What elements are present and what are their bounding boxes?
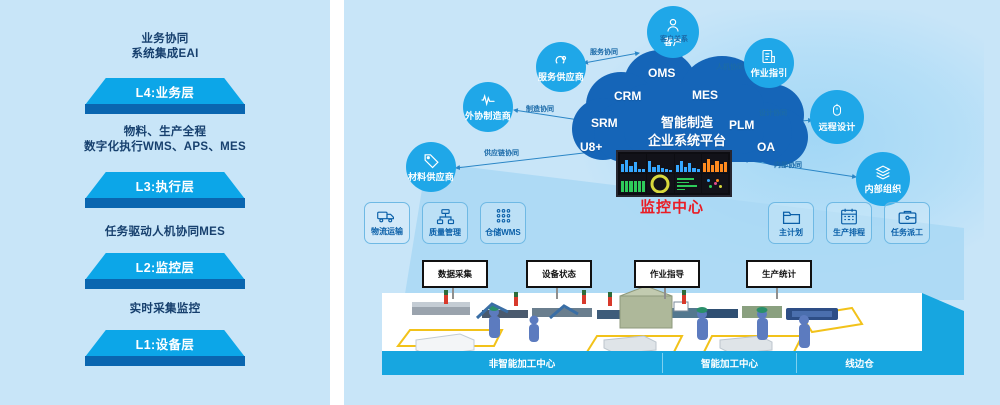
cloud-module-oms: OMS (648, 66, 675, 80)
bar-chart (621, 159, 645, 172)
cloud-title-line1: 智能制造 (627, 114, 747, 131)
dashboard-panel-bar (620, 154, 646, 173)
dashboard-panel-scatter (702, 174, 728, 193)
tile-label: 物流运输 (371, 226, 403, 237)
dashboard-panel-bar (675, 154, 701, 173)
satellite-work-instruction[interactable]: 作业指引 (744, 38, 794, 88)
connector-label-internal-collab: 内部协同 (774, 160, 802, 170)
satellite-customer[interactable]: 客户 (647, 6, 699, 58)
layer-caption-2: 任务驱动人机协同MES (0, 225, 330, 240)
tile-label: 任务派工 (891, 227, 923, 238)
cloud-module-mes: MES (692, 88, 718, 102)
layer-label: L2:监控层 (85, 257, 245, 276)
tile-production-scheduling[interactable]: 生产排程 (826, 202, 872, 244)
dashboard-grid (620, 154, 728, 193)
connector-label-human-machine-collab: 人机协同 (716, 62, 744, 72)
satellite-label: 材料供应商 (408, 170, 454, 183)
caption-line: 系统集成EAI (0, 47, 330, 62)
tile-label: 质量管理 (429, 227, 461, 238)
dashboard-panel-bar (647, 154, 673, 173)
connector-label-service-collab: 服务协同 (590, 47, 618, 57)
connector-label-design-collab: 设计协同 (759, 108, 787, 118)
signboard-production-statistics[interactable]: 生产统计 (746, 260, 812, 288)
service-icon (553, 52, 570, 69)
cloud-module-crm: CRM (614, 89, 641, 103)
briefcase-icon (898, 209, 917, 225)
tile-logistics[interactable]: 物流运输 (364, 202, 410, 244)
layers-icon (874, 164, 892, 181)
user-icon (665, 17, 681, 34)
smart-manufacturing-ecosystem-panel: OMS CRM MES SRM PLM U8+ OA 智能制造 企业系统平台 客… (344, 0, 1000, 405)
dashboard-panel-lines (675, 174, 701, 193)
bar-chart (648, 159, 672, 172)
signboard-equipment-status[interactable]: 设备状态 (526, 260, 592, 288)
satellite-label: 作业指引 (751, 66, 788, 79)
signboard-label: 生产统计 (762, 268, 796, 280)
tile-label: 仓储WMS (485, 227, 521, 238)
truck-icon (377, 209, 397, 224)
cloud-module-u8plus: U8+ (580, 140, 602, 154)
satellite-material-supplier[interactable]: 材料供应商 (406, 142, 456, 192)
cloud-module-srm: SRM (591, 116, 618, 130)
zone-label-line-side-warehouse: 线边仓 (797, 356, 922, 374)
signboard-label: 作业指导 (650, 268, 684, 280)
monitoring-center-title: 监控中心 (606, 196, 738, 217)
layer-label: L4:业务层 (85, 82, 245, 101)
caption-line: 数字化执行WMS、APS、MES (0, 140, 330, 155)
scatter-chart (704, 176, 726, 191)
bar-chart (703, 159, 727, 172)
grid-dots-icon (494, 208, 513, 225)
waveform-icon (479, 92, 497, 108)
mouse-icon (830, 101, 844, 119)
satellite-internal-organization[interactable]: 内部组织 (856, 152, 910, 206)
satellite-label: 远程设计 (819, 120, 856, 133)
donut-chart (651, 174, 670, 193)
signboard-work-guidance[interactable]: 作业指导 (634, 260, 700, 288)
tile-warehouse-wms[interactable]: 仓储WMS (480, 202, 526, 244)
tile-label: 生产排程 (833, 227, 865, 238)
connector-label-customer-relation: 客户关系 (660, 34, 688, 44)
factory-floor: 数据采集 设备状态 作业指导 生产统计 非智能加工中心 智能加工中心 线边仓 (344, 255, 1000, 405)
tile-master-plan[interactable]: 主计划 (768, 202, 814, 244)
satellite-label: 外协制造商 (465, 109, 511, 122)
pyramid-layer-l4[interactable]: L4:业务层 (0, 78, 330, 120)
dashboard-panel-bar-orange (702, 154, 728, 173)
layer-label: L1:设备层 (85, 334, 245, 353)
signboard-label: 数据采集 (438, 268, 472, 280)
tile-label: 主计划 (779, 227, 803, 238)
satellite-label: 内部组织 (865, 182, 902, 195)
connector-label-supplychain-collab: 供应链协同 (484, 148, 519, 158)
production-line-illustration (382, 288, 942, 358)
folder-icon (782, 209, 801, 225)
satellite-outsourced-manufacturer[interactable]: 外协制造商 (463, 82, 513, 132)
bar-chart (676, 159, 700, 172)
connector-label-manufacture-collab: 制造协同 (526, 104, 554, 114)
layer-base-face (85, 104, 245, 114)
tile-quality-management[interactable]: 质量管理 (422, 202, 468, 244)
pyramid-layer-l2[interactable]: L2:监控层 (0, 253, 330, 295)
diagram-root: 业务协同 系统集成EAI L4:业务层 物料、生产全程 数字化执行WMS、APS… (0, 0, 1000, 405)
document-icon (761, 48, 777, 65)
layer-base-face (85, 279, 245, 289)
tag-icon (423, 152, 440, 169)
monitoring-dashboard-screen[interactable] (616, 150, 732, 197)
layer-label: L3:执行层 (85, 176, 245, 195)
zone-label-non-smart: 非智能加工中心 (382, 356, 662, 374)
tile-task-dispatch[interactable]: 任务派工 (884, 202, 930, 244)
caption-line: 业务协同 (0, 32, 330, 47)
architecture-pyramid-panel: 业务协同 系统集成EAI L4:业务层 物料、生产全程 数字化执行WMS、APS… (0, 0, 330, 405)
cloud-title-line2: 企业系统平台 (627, 132, 747, 149)
satellite-label: 服务供应商 (538, 70, 584, 83)
layer-caption-3: 物料、生产全程 数字化执行WMS、APS、MES (0, 125, 330, 155)
zone-label-smart: 智能加工中心 (663, 356, 796, 374)
hierarchy-icon (436, 209, 455, 225)
line-list (677, 177, 699, 191)
signboard-label: 设备状态 (542, 268, 576, 280)
caption-line: 物料、生产全程 (0, 125, 330, 140)
layer-caption-4: 业务协同 系统集成EAI (0, 32, 330, 62)
layer-base-face (85, 198, 245, 208)
bar-chart (621, 179, 645, 192)
dashboard-panel-bar-green (620, 174, 646, 193)
dashboard-panel-donut (647, 174, 673, 193)
layer-caption-1: 实时采集监控 (0, 302, 330, 317)
signboard-data-collection[interactable]: 数据采集 (422, 260, 488, 288)
satellite-service-provider[interactable]: 服务供应商 (536, 42, 586, 92)
panel-divider (330, 0, 344, 405)
cloud-module-oa: OA (757, 140, 775, 154)
satellite-remote-design[interactable]: 远程设计 (810, 90, 864, 144)
calendar-icon (840, 208, 858, 225)
pyramid-layer-l3[interactable]: L3:执行层 (0, 172, 330, 214)
layer-base-face (85, 356, 245, 366)
pyramid-layer-l1[interactable]: L1:设备层 (0, 330, 330, 372)
floor-side-face (922, 293, 964, 375)
caption-line: 实时采集监控 (0, 302, 330, 317)
caption-line: 任务驱动人机协同MES (0, 225, 330, 240)
